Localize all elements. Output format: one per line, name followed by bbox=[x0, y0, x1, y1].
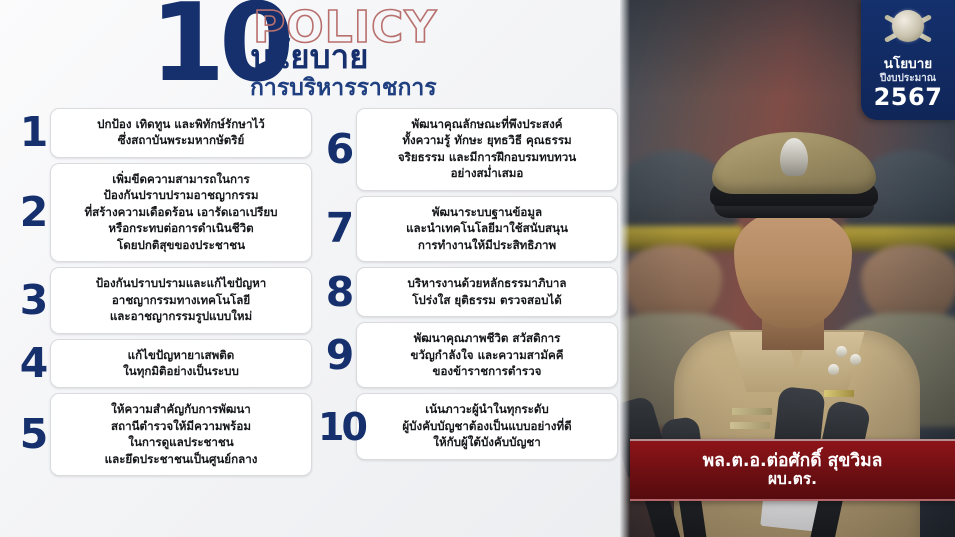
policy-column-left: 1ปกป้อง เทิดทูน และพิทักษ์รักษาไว้ซึ่งสถ… bbox=[12, 108, 312, 476]
speaker-name: พล.ต.อ.ต่อศักดิ์ สุขวิมล bbox=[703, 451, 883, 471]
policy-item: 6พัฒนาคุณลักษณะที่พึงประสงค์ทั้งความรู้ … bbox=[318, 108, 618, 191]
emblem-crest bbox=[900, 15, 916, 37]
rank-insignia bbox=[850, 354, 861, 365]
page-title: นโยบาย bbox=[250, 40, 368, 75]
policy-number: 2 bbox=[12, 192, 54, 233]
speaker-position: ผบ.ตร. bbox=[768, 471, 817, 489]
policy-text-line: เพิ่มขีดความสามารถในการ bbox=[59, 171, 303, 187]
policy-card: พัฒนาระบบฐานข้อมูลและนำเทคโนโลยีมาใช้สนั… bbox=[356, 196, 618, 262]
badge-label-policy: นโยบาย bbox=[861, 57, 955, 72]
policy-text-line: การทำงานให้มีประสิทธิภาพ bbox=[365, 237, 609, 253]
page-subtitle: การบริหารราชการ bbox=[250, 76, 437, 100]
fiscal-year-badge: นโยบาย ปีงบประมาณ 2567 bbox=[861, 0, 955, 120]
policy-text-line: พัฒนาคุณภาพชีวิต สวัสดิการ bbox=[365, 330, 609, 346]
policy-item: 2เพิ่มขีดความสามารถในการป้องกันปราบปรามอ… bbox=[12, 163, 312, 262]
policy-card: เพิ่มขีดความสามารถในการป้องกันปราบปรามอา… bbox=[50, 163, 312, 262]
policy-text-line: สถานีตำรวจให้มีความพร้อม bbox=[59, 418, 303, 434]
policy-text-line: ป้องกันปราบปรามและแก้ไขปัญหา bbox=[59, 275, 303, 291]
policy-item: 1ปกป้อง เทิดทูน และพิทักษ์รักษาไว้ซึ่งสถ… bbox=[12, 108, 312, 158]
policy-text-line: จริยธรรม และมีการฝึกอบรมทบทวน bbox=[365, 149, 609, 165]
policy-text-line: ทั้งความรู้ ทักษะ ยุทธวิธี คุณธรรม bbox=[365, 132, 609, 148]
policy-text-line: ของข้าราชการตำรวจ bbox=[365, 363, 609, 379]
infographic-root: นโยบาย ปีงบประมาณ 2567 10 POLICY นโยบาย … bbox=[0, 0, 955, 537]
policy-column-right: 6พัฒนาคุณลักษณะที่พึงประสงค์ทั้งความรู้ … bbox=[318, 108, 618, 460]
policy-text-line: ในการดูแลประชาชน bbox=[59, 434, 303, 450]
policy-text-line: พัฒนาระบบฐานข้อมูล bbox=[365, 204, 609, 220]
policy-card: ป้องกันปราบปรามและแก้ไขปัญหาอาชญากรรมทาง… bbox=[50, 267, 312, 333]
policy-card: พัฒนาคุณภาพชีวิต สวัสดิการขวัญกำลังใจ แล… bbox=[356, 322, 618, 388]
policy-number: 10 bbox=[318, 408, 360, 446]
policy-text-line: บริหารงานด้วยหลักธรรมาภิบาล bbox=[365, 275, 609, 291]
rank-insignia bbox=[828, 364, 839, 375]
policy-number: 7 bbox=[318, 208, 360, 249]
policy-number: 1 bbox=[12, 112, 54, 153]
medal-ribbon bbox=[730, 422, 770, 429]
policy-item: 4แก้ไขปัญหายาเสพติดในทุกมิติอย่างเป็นระบ… bbox=[12, 339, 312, 389]
policy-text-line: หรือกระทบต่อการดำเนินชีวิต bbox=[59, 220, 303, 236]
policy-card: พัฒนาคุณลักษณะที่พึงประสงค์ทั้งความรู้ ท… bbox=[356, 108, 618, 191]
policy-card: แก้ไขปัญหายาเสพติดในทุกมิติอย่างเป็นระบบ bbox=[50, 339, 312, 389]
policy-number: 3 bbox=[12, 280, 54, 321]
policy-text-line: ในทุกมิติอย่างเป็นระบบ bbox=[59, 363, 303, 379]
cap-badge-icon bbox=[780, 138, 808, 176]
speaker-name-banner: พล.ต.อ.ต่อศักดิ์ สุขวิมล ผบ.ตร. bbox=[630, 439, 955, 501]
policy-text-line: ผู้บังคับบัญชาต้องเป็นแบบอย่างที่ดี bbox=[365, 418, 609, 434]
face bbox=[734, 210, 852, 328]
policy-text-line: อาชญากรรมทางเทคโนโลยี bbox=[59, 292, 303, 308]
photo-left-fade bbox=[620, 0, 630, 537]
policy-text-line: อย่างสม่ำเสมอ bbox=[365, 165, 609, 181]
rank-insignia bbox=[836, 346, 847, 357]
badge-year-value: 2567 bbox=[861, 85, 955, 110]
policy-number: 4 bbox=[12, 343, 54, 384]
policy-item: 7พัฒนาระบบฐานข้อมูลและนำเทคโนโลยีมาใช้สน… bbox=[318, 196, 618, 262]
policy-text-line: และอาชญากรรมรูปแบบใหม่ bbox=[59, 308, 303, 324]
policy-text-line: ที่สร้างความเดือดร้อน เอารัดเอาเปรียบ bbox=[59, 204, 303, 220]
policy-text-line: ปกป้อง เทิดทูน และพิทักษ์รักษาไว้ bbox=[59, 116, 303, 132]
page-header: 10 POLICY นโยบาย การบริหารราชการ bbox=[150, 2, 620, 110]
policy-text-line: พัฒนาคุณลักษณะที่พึงประสงค์ bbox=[365, 116, 609, 132]
policy-item: 3ป้องกันปราบปรามและแก้ไขปัญหาอาชญากรรมทา… bbox=[12, 267, 312, 333]
policy-item: 9พัฒนาคุณภาพชีวิต สวัสดิการขวัญกำลังใจ แ… bbox=[318, 322, 618, 388]
policy-number: 8 bbox=[318, 272, 360, 313]
thai-police-emblem-icon bbox=[883, 4, 933, 56]
policy-text-line: โปร่งใส ยุติธรรม ตรวจสอบได้ bbox=[365, 292, 609, 308]
policy-card: เน้นภาวะผู้นำในทุกระดับผู้บังคับบัญชาต้อ… bbox=[356, 393, 618, 459]
policy-text-line: เน้นภาวะผู้นำในทุกระดับ bbox=[365, 401, 609, 417]
policy-item: 8บริหารงานด้วยหลักธรรมาภิบาลโปร่งใส ยุติ… bbox=[318, 267, 618, 317]
policy-text-line: และยึดประชาชนเป็นศูนย์กลาง bbox=[59, 451, 303, 467]
policy-item: 10เน้นภาวะผู้นำในทุกระดับผู้บังคับบัญชาต… bbox=[318, 393, 618, 459]
medal-ribbon bbox=[824, 390, 854, 397]
policy-card: ปกป้อง เทิดทูน และพิทักษ์รักษาไว้ซึ่งสถา… bbox=[50, 108, 312, 158]
policy-text-line: ป้องกันปราบปรามอาชญากรรม bbox=[59, 187, 303, 203]
policy-number: 6 bbox=[318, 129, 360, 170]
policy-text-line: ซึ่งสถาบันพระมหากษัตริย์ bbox=[59, 132, 303, 148]
policy-text-line: ให้ความสำคัญกับการพัฒนา bbox=[59, 401, 303, 417]
policy-item: 5ให้ความสำคัญกับการพัฒนาสถานีตำรวจให้มีค… bbox=[12, 393, 312, 476]
policy-text-line: ขวัญกำลังใจ และความสามัคคี bbox=[365, 347, 609, 363]
policy-card: ให้ความสำคัญกับการพัฒนาสถานีตำรวจให้มีคว… bbox=[50, 393, 312, 476]
policy-number: 5 bbox=[12, 414, 54, 455]
policy-text-line: ให้กับผู้ใต้บังคับบัญชา bbox=[365, 434, 609, 450]
medal-ribbon bbox=[732, 408, 772, 415]
policy-number: 9 bbox=[318, 335, 360, 376]
policy-card: บริหารงานด้วยหลักธรรมาภิบาลโปร่งใส ยุติธ… bbox=[356, 267, 618, 317]
policy-text-line: และนำเทคโนโลยีมาใช้สนับสนุน bbox=[365, 220, 609, 236]
policy-text-line: โดยปกติสุขของประชาชน bbox=[59, 237, 303, 253]
policy-text-line: แก้ไขปัญหายาเสพติด bbox=[59, 347, 303, 363]
